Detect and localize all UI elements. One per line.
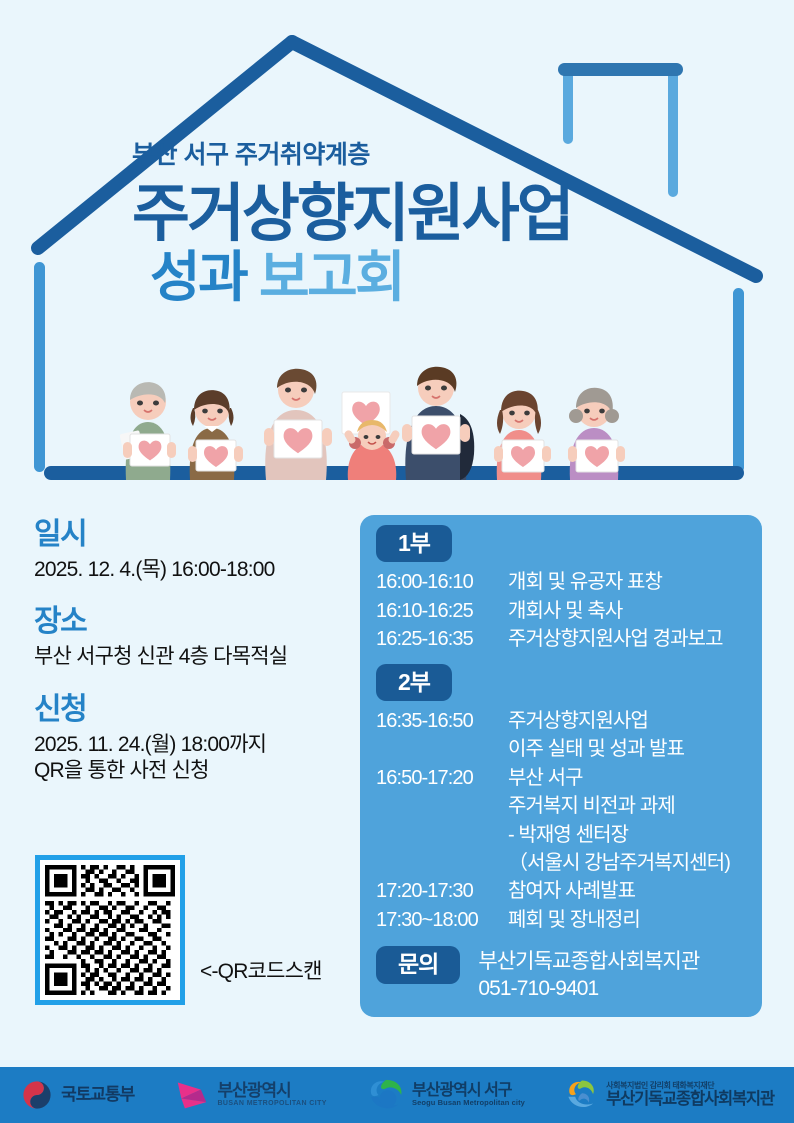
logo-seogu-label: 부산광역시 서구 Seogu Busan Metropolitan city xyxy=(412,1083,525,1108)
contact-block: 문의 부산기독교종합사회복지관 051-710-9401 xyxy=(376,946,762,1003)
apply-value-line1: 2025. 11. 24.(월) 18:00까지 xyxy=(34,733,266,756)
heading-block: 부산 서구 주거취약계층 주거상향지원사업 성과 보고회 xyxy=(132,142,752,307)
schedule-row: 16:35-16:50 주거상향지원사업 xyxy=(376,707,748,735)
row-text: 이주 실태 및 성과 발표 xyxy=(508,735,684,763)
row-text: 주거상향지원사업 경과보고 xyxy=(508,625,723,653)
seogu-mark-icon xyxy=(367,1078,405,1112)
qr-code[interactable] xyxy=(35,855,185,1005)
taegeuk-icon xyxy=(20,1078,54,1112)
row-time: 17:20-17:30 xyxy=(376,877,508,905)
logo-molit-label: 국토교통부 xyxy=(61,1086,134,1104)
busan-city-mark-icon xyxy=(174,1079,210,1111)
person-6 xyxy=(494,391,551,480)
poster-title-main: 주거상향지원사업 xyxy=(132,184,752,246)
contact-org: 부산기독교종합사회복지관 xyxy=(478,950,699,973)
wall-left-post xyxy=(34,262,45,472)
row-time xyxy=(376,849,508,877)
apply-label: 신청 xyxy=(34,693,354,726)
row-time: 16:25-16:35 xyxy=(376,625,508,653)
schedule-row: 16:00-16:10 개회 및 유공자 표창 xyxy=(376,568,748,596)
wall-right-post xyxy=(733,288,744,473)
person-2 xyxy=(188,390,243,480)
row-text: 주거상향지원사업 xyxy=(508,707,648,735)
row-time: 16:35-16:50 xyxy=(376,707,508,735)
contact-phone: 051-710-9401 xyxy=(478,977,598,1000)
poster-title-sub-light: 보고회 xyxy=(259,246,403,308)
part1-rows: 16:00-16:10 개회 및 유공자 표창 16:10-16:25 개회사 … xyxy=(360,568,762,653)
row-time: 16:10-16:25 xyxy=(376,597,508,625)
row-time: 16:50-17:20 xyxy=(376,764,508,792)
logo-busan-city-kr: 부산광역시 xyxy=(217,1082,326,1100)
part2-badge: 2부 xyxy=(376,664,452,701)
poster-kicker: 부산 서구 주거취약계층 xyxy=(132,142,752,170)
schedule-row: - 박재영 센터장 xyxy=(376,821,748,849)
logo-busan-city-label: 부산광역시 BUSAN METROPOLITAN CITY xyxy=(217,1082,326,1107)
schedule-row: 주거복지 비전과 과제 xyxy=(376,792,748,820)
schedule-row: 이주 실태 및 성과 발표 xyxy=(376,735,748,763)
row-time xyxy=(376,735,508,763)
row-text: 주거복지 비전과 과제 xyxy=(508,792,675,820)
row-time xyxy=(376,821,508,849)
event-info-column: 일시 2025. 12. 4.(목) 16:00-18:00 장소 부산 서구청… xyxy=(34,518,354,784)
schedule-row: 17:20-17:30 참여자 사례발표 xyxy=(376,877,748,905)
person-7 xyxy=(568,388,625,480)
schedule-row: 16:10-16:25 개회사 및 축사 xyxy=(376,597,748,625)
antenna-crossbar xyxy=(558,63,683,76)
logo-busan-city: 부산광역시 BUSAN METROPOLITAN CITY xyxy=(174,1079,326,1111)
part2-rows: 16:35-16:50 주거상향지원사업 이주 실태 및 성과 발표 16:50… xyxy=(360,707,762,934)
schedule-row: （서울시 강남주거복지센터) xyxy=(376,849,748,877)
schedule-row: 16:50-17:20 부산 서구 xyxy=(376,764,748,792)
row-text: 참여자 사례발표 xyxy=(508,877,635,905)
logo-molit: 국토교통부 xyxy=(20,1078,134,1112)
logo-welfare-center: 사회복지법인 감리회 태화복지재단 부산기독교종합사회복지관 xyxy=(565,1078,774,1112)
logo-welfare-center-kr: 부산기독교종합사회복지관 xyxy=(606,1091,774,1108)
person-5 xyxy=(402,367,474,480)
welfare-center-mark-icon xyxy=(565,1078,599,1112)
contact-badge: 문의 xyxy=(376,946,460,983)
schedule-row: 17:30~18:00 폐회 및 장내정리 xyxy=(376,906,748,934)
person-3 xyxy=(264,369,332,480)
date-value: 2025. 12. 4.(목) 16:00-18:00 xyxy=(34,557,354,583)
qr-caption: <-QR코드스캔 xyxy=(200,955,322,985)
row-text: 개회 및 유공자 표창 xyxy=(508,568,662,596)
part1-badge: 1부 xyxy=(376,525,452,562)
logo-seogu-kr: 부산광역시 서구 xyxy=(412,1083,525,1100)
row-text: 폐회 및 장내정리 xyxy=(508,906,640,934)
footer-logo-bar: 국토교통부 부산광역시 BUSAN METROPOLITAN CITY 부산광역… xyxy=(0,1067,794,1123)
poster-root: 부산 서구 주거취약계층 주거상향지원사업 성과 보고회 xyxy=(0,0,794,1123)
row-time: 17:30~18:00 xyxy=(376,906,508,934)
contact-text: 부산기독교종합사회복지관 051-710-9401 xyxy=(478,946,699,1003)
place-value: 부산 서구청 신관 4층 다목적실 xyxy=(34,644,354,670)
date-label: 일시 xyxy=(34,518,354,551)
row-time: 16:00-16:10 xyxy=(376,568,508,596)
schedule-row: 16:25-16:35 주거상향지원사업 경과보고 xyxy=(376,625,748,653)
logo-seogu: 부산광역시 서구 Seogu Busan Metropolitan city xyxy=(367,1078,525,1112)
poster-title-sub: 성과 보고회 xyxy=(150,249,752,307)
place-label: 장소 xyxy=(34,605,354,638)
apply-value: 2025. 11. 24.(월) 18:00까지 QR을 통한 사전 신청 xyxy=(34,732,354,785)
row-time xyxy=(376,792,508,820)
poster-title-sub-dark: 성과 xyxy=(150,246,246,308)
row-text: 부산 서구 xyxy=(508,764,583,792)
row-text: - 박재영 센터장 xyxy=(508,821,628,849)
apply-value-line2: QR을 통한 사전 신청 xyxy=(34,759,209,782)
logo-busan-city-en: BUSAN METROPOLITAN CITY xyxy=(217,1100,326,1107)
schedule-panel: 1부 16:00-16:10 개회 및 유공자 표창 16:10-16:25 개… xyxy=(360,515,762,1017)
logo-welfare-center-label: 사회복지법인 감리회 태화복지재단 부산기독교종합사회복지관 xyxy=(606,1082,774,1108)
row-text: （서울시 강남주거복지센터) xyxy=(508,849,730,877)
logo-seogu-en: Seogu Busan Metropolitan city xyxy=(412,1099,525,1107)
person-1 xyxy=(120,382,176,480)
row-text: 개회사 및 축사 xyxy=(508,597,622,625)
qr-code-image xyxy=(45,865,175,995)
people-holding-hearts-illustration xyxy=(108,358,708,480)
